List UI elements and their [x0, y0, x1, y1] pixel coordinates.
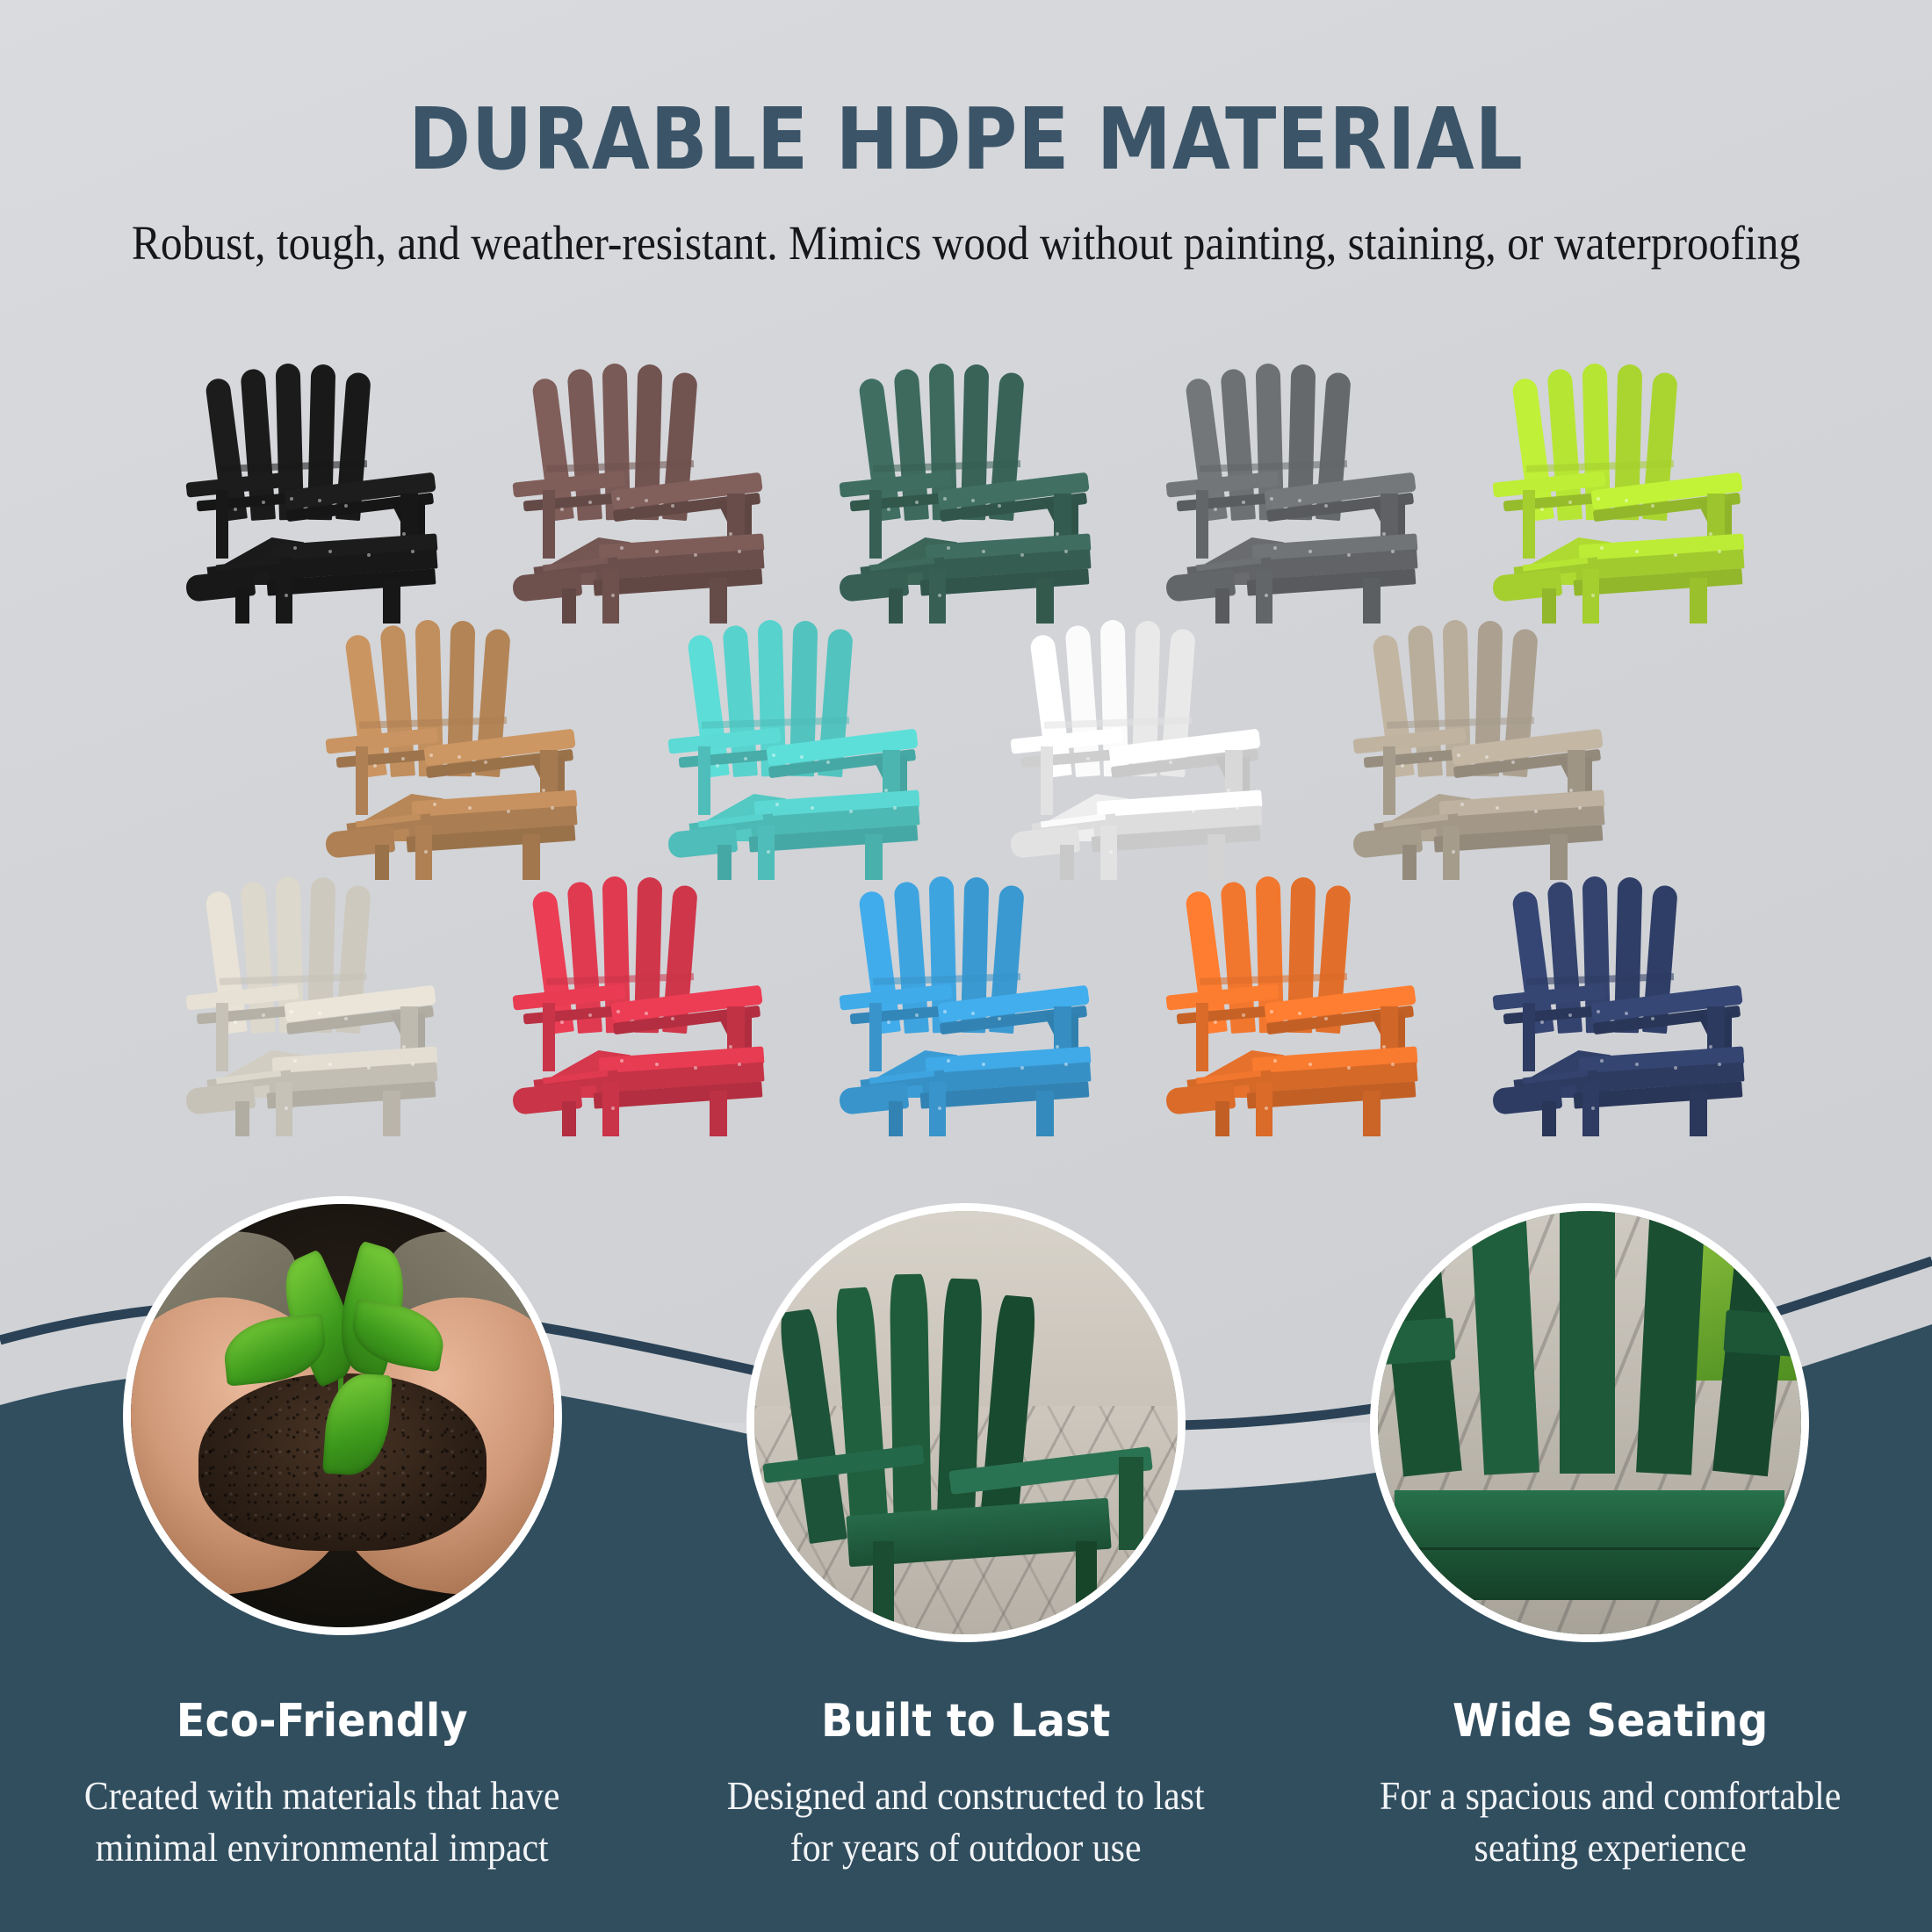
chair-color-grid — [0, 367, 1932, 1136]
chair-part — [1060, 845, 1074, 880]
chair-part — [1363, 1091, 1381, 1136]
chair-screw — [1020, 1066, 1024, 1070]
feature-caption: Wide Seating For a spacious and comforta… — [1288, 1695, 1932, 1873]
chair-screw — [729, 532, 732, 536]
chair-screw — [468, 806, 472, 810]
chair-screw — [1308, 550, 1312, 553]
chair-screw — [616, 1010, 620, 1013]
chair-seat — [1395, 1490, 1784, 1600]
chair-back-slat — [890, 1274, 933, 1541]
chair-screw — [1298, 499, 1301, 502]
chair-screw — [344, 1017, 348, 1020]
chair-screw — [655, 550, 659, 553]
chair-screw — [293, 1059, 297, 1063]
chair-swatch-red[interactable] — [476, 880, 803, 1136]
chair-screw — [729, 1045, 732, 1049]
feature-text: Created with materials that have minimal… — [59, 1770, 586, 1873]
chair-screw — [234, 508, 237, 511]
chair-part — [869, 490, 882, 559]
adirondack-chair-icon — [181, 367, 444, 624]
chair-screw — [1534, 810, 1538, 813]
chair-screw — [1651, 504, 1654, 508]
chair-screw — [1056, 532, 1059, 536]
chair-screw — [744, 757, 747, 761]
feature-photos — [0, 1196, 1932, 1670]
chair-screw — [887, 508, 890, 511]
chair-screw — [1568, 1013, 1572, 1017]
chair-screw — [1270, 497, 1273, 501]
chair-swatch-gray[interactable] — [1129, 367, 1456, 624]
chair-screw — [645, 1012, 648, 1015]
chair-screw — [1674, 553, 1677, 557]
chair-screw — [1496, 806, 1499, 810]
chair-part — [383, 578, 400, 624]
feature-text: For a spacious and comfortable seating e… — [1346, 1770, 1873, 1873]
chair-screw — [671, 504, 674, 508]
chair-screw — [943, 1010, 947, 1013]
chair-screw — [411, 550, 415, 553]
adirondack-chair-icon — [1161, 367, 1424, 624]
chair-screw — [915, 501, 919, 504]
chair-screw — [373, 764, 377, 768]
chair-screw — [826, 761, 830, 764]
chair-part — [1542, 588, 1556, 624]
chair-screw — [1382, 532, 1386, 536]
chair-screw — [1568, 501, 1572, 504]
chair-part — [1196, 490, 1208, 559]
chair-part — [1690, 1091, 1707, 1136]
chair-screw — [293, 546, 297, 550]
chair-screw — [542, 789, 545, 792]
chair-screw — [716, 764, 719, 768]
chair-screw — [1227, 789, 1230, 792]
chair-screw — [884, 789, 888, 792]
chair-screw — [620, 546, 624, 550]
feature-title: Built to Last — [705, 1695, 1227, 1748]
chair-screw — [1597, 1010, 1600, 1013]
chair-screw — [671, 1017, 674, 1020]
chair-screw — [367, 1066, 371, 1070]
chair-part — [375, 845, 389, 880]
chair-screw — [402, 532, 406, 536]
chair-screw — [1064, 550, 1068, 553]
chair-part — [869, 1003, 882, 1071]
chair-screw — [1511, 761, 1515, 764]
chair-screw — [401, 757, 405, 761]
adirondack-chair-icon — [1348, 624, 1611, 880]
chair-part — [1542, 1101, 1556, 1136]
chair-screw — [1429, 757, 1432, 761]
chair-screw — [1242, 1013, 1245, 1017]
chair-screw — [1597, 497, 1600, 501]
adirondack-chair-icon — [834, 880, 1098, 1136]
adirondack-chair-icon — [508, 880, 771, 1136]
chair-screw — [1718, 550, 1721, 553]
chair-part — [216, 490, 228, 559]
chair-screw — [611, 594, 615, 597]
chair-part — [356, 746, 368, 815]
chair-part — [889, 1101, 903, 1136]
chair-screw — [1391, 1063, 1395, 1066]
chair-screw — [1718, 1063, 1721, 1066]
chair-screw — [367, 553, 371, 557]
chair-swatch-blue[interactable] — [803, 880, 1129, 1136]
chair-swatch-lime-green[interactable] — [1456, 367, 1783, 624]
chair-leg — [1076, 1541, 1097, 1626]
chair-screw — [290, 1010, 293, 1013]
chair-part — [1690, 578, 1707, 624]
chair-screw — [971, 499, 975, 502]
chair-part — [562, 1101, 576, 1136]
chair-screw — [1485, 755, 1489, 759]
chair-swatch-dark-brown[interactable] — [476, 367, 803, 624]
chair-screw — [1153, 806, 1157, 810]
chair-screw — [1709, 1045, 1712, 1049]
chair-screw — [1214, 1020, 1217, 1024]
chair-screw — [1401, 764, 1404, 768]
chair-screw — [767, 850, 770, 854]
chair-screw — [1591, 1107, 1595, 1110]
chair-screw — [1635, 1063, 1639, 1066]
chair-part — [1036, 578, 1054, 624]
chair-screw — [458, 755, 461, 759]
chair-screw — [1236, 806, 1239, 810]
chair-screw — [998, 1017, 1001, 1020]
chair-seat-closeup-photo — [1378, 1211, 1801, 1634]
chair-part — [1383, 746, 1395, 815]
chair-swatch-black[interactable] — [149, 367, 476, 624]
chair-part — [1215, 588, 1229, 624]
chair-swatch-navy-blue[interactable] — [1456, 880, 1783, 1136]
chair-screw — [655, 1063, 659, 1066]
chair-part — [717, 845, 732, 880]
chair-screw — [1591, 594, 1595, 597]
chair-part — [1523, 1003, 1535, 1071]
adirondack-chair-icon — [1488, 880, 1751, 1136]
chair-part — [1036, 1091, 1054, 1136]
chair-screw — [1265, 1107, 1268, 1110]
chair-screw — [1118, 803, 1121, 806]
chair-screw — [1242, 501, 1245, 504]
chair-leg — [873, 1541, 894, 1634]
chair-screw — [738, 550, 741, 553]
chair-screw — [1270, 1010, 1273, 1013]
chair-row-2 — [0, 624, 1932, 880]
chair-screw — [1192, 810, 1195, 813]
adirondack-chair-icon — [321, 624, 584, 880]
chair-screw — [560, 1020, 564, 1024]
chair-screw — [971, 1012, 975, 1015]
chair-part — [216, 1003, 228, 1071]
chair-row-1 — [0, 367, 1932, 624]
chair-screw — [560, 508, 564, 511]
chair-screw — [775, 803, 779, 806]
chair-screw — [616, 497, 620, 501]
chair-screw — [645, 499, 648, 502]
chair-part — [1523, 490, 1535, 559]
chair-arm-post — [1119, 1457, 1144, 1550]
chair-screw — [262, 501, 265, 504]
chair-screw — [1540, 508, 1544, 511]
chair-screw — [507, 810, 510, 813]
chair-screw — [1214, 508, 1217, 511]
chair-part — [698, 746, 710, 815]
chair-screw — [402, 1045, 406, 1049]
chair-screw — [982, 550, 985, 553]
chair-screw — [328, 1063, 332, 1066]
chair-screw — [318, 499, 321, 502]
chair-screw — [588, 1013, 592, 1017]
chair-screw — [982, 1063, 985, 1066]
chair-screw — [947, 546, 950, 550]
chair-swatch-white[interactable] — [966, 624, 1308, 880]
chair-screw — [772, 753, 775, 757]
chair-screw — [1569, 789, 1573, 792]
chair-part — [1402, 845, 1417, 880]
chair-swatch-ivory[interactable] — [149, 880, 476, 1136]
chair-screw — [943, 497, 947, 501]
adirondack-chair-icon — [1161, 880, 1424, 1136]
chair-screw — [893, 806, 897, 810]
chair-screw — [915, 1013, 919, 1017]
chair-screw — [1635, 550, 1639, 553]
chair-screw — [1460, 803, 1464, 806]
chair-screw — [1600, 546, 1604, 550]
chair-screw — [1058, 764, 1062, 768]
chair-screw — [938, 594, 941, 597]
built-to-last-photo — [746, 1203, 1186, 1642]
chair-screw — [285, 1107, 288, 1110]
chair-back-slat — [1560, 1203, 1615, 1474]
adirondack-chair-icon — [1488, 367, 1751, 624]
chair-screw — [1391, 550, 1395, 553]
chair-part — [543, 1003, 555, 1071]
adirondack-chair-icon — [1006, 624, 1269, 880]
chair-screw — [1625, 1012, 1628, 1015]
chair-part — [1196, 1003, 1208, 1071]
chair-screw — [1674, 1066, 1677, 1070]
chair-swatch-dark-green[interactable] — [803, 367, 1129, 624]
chair-screw — [1600, 1059, 1604, 1063]
chair-part — [1215, 1101, 1229, 1136]
chair-screw — [938, 1107, 941, 1110]
adirondack-chair-icon — [663, 624, 926, 880]
chair-screw — [262, 1013, 265, 1017]
chair-armrest-right — [1724, 1309, 1809, 1358]
chair-screw — [611, 1107, 615, 1110]
chair-screw — [1109, 850, 1113, 854]
chair-row-3 — [0, 880, 1932, 1136]
chair-screw — [694, 1066, 697, 1070]
chair-screw — [1347, 553, 1351, 557]
chair-screw — [433, 803, 436, 806]
chair-part — [710, 578, 727, 624]
chair-screw — [328, 550, 332, 553]
wide-seating-photo — [1370, 1203, 1809, 1642]
chair-part — [543, 490, 555, 559]
chair-part — [1550, 834, 1568, 880]
chair-part — [1041, 746, 1053, 815]
chair-screw — [1452, 850, 1455, 854]
chair-screw — [811, 806, 814, 810]
chair-screw — [285, 594, 288, 597]
chair-screw — [1625, 499, 1628, 502]
chair-seat-seam — [1395, 1547, 1784, 1550]
chair-screw — [620, 1059, 624, 1063]
feature-caption: Built to Last Designed and constructed t… — [644, 1695, 1287, 1873]
chair-screw — [1457, 753, 1460, 757]
chair-part — [1363, 578, 1381, 624]
feature-caption: Eco-Friendly Created with materials that… — [0, 1695, 644, 1873]
chair-screw — [1114, 753, 1118, 757]
chair-screw — [344, 504, 348, 508]
chair-screw — [1056, 1045, 1059, 1049]
adirondack-chair-icon — [508, 367, 771, 624]
chair-screw — [1169, 761, 1172, 764]
chair-screw — [234, 1020, 237, 1024]
chair-screw — [290, 497, 293, 501]
chair-screw — [1064, 1063, 1068, 1066]
chair-screw — [1709, 532, 1712, 536]
chair-swatch-orange[interactable] — [1129, 880, 1456, 1136]
adirondack-chair-icon — [181, 880, 444, 1136]
chair-screw — [1382, 1045, 1386, 1049]
page-subtitle: Robust, tough, and weather-resistant. Mi… — [97, 212, 1835, 276]
chair-screw — [887, 1020, 890, 1024]
chair-part — [235, 1101, 249, 1136]
chair-part — [1207, 834, 1225, 880]
chair-screw — [1324, 1017, 1328, 1020]
chair-part — [865, 834, 883, 880]
adirondack-chair-icon — [834, 367, 1098, 624]
chair-screw — [1273, 546, 1277, 550]
chair-swatch-turquoise[interactable] — [624, 624, 966, 880]
chair-screw — [429, 753, 433, 757]
chair-part — [710, 1091, 727, 1136]
chair-screw — [484, 761, 487, 764]
chair-screw — [1324, 504, 1328, 508]
header: DURABLE HDPE MATERIAL Robust, tough, and… — [0, 97, 1932, 276]
chair-screw — [800, 755, 804, 759]
chair-screw — [551, 806, 554, 810]
chair-screw — [1265, 594, 1268, 597]
chair-swatch-khaki[interactable] — [1308, 624, 1651, 880]
chair-screw — [1578, 806, 1582, 810]
chair-armrest-left — [1370, 1318, 1455, 1366]
chair-screw — [1651, 1017, 1654, 1020]
feature-title: Eco-Friendly — [61, 1695, 583, 1748]
chair-screw — [1540, 1020, 1544, 1024]
eco-friendly-photo — [123, 1196, 562, 1635]
chair-screw — [1347, 1066, 1351, 1070]
chair-screw — [998, 504, 1001, 508]
chair-screw — [318, 1012, 321, 1015]
chair-screw — [424, 850, 428, 854]
chair-screw — [1020, 553, 1024, 557]
feature-text: Designed and constructed to last for yea… — [703, 1770, 1229, 1873]
chair-screw — [694, 553, 697, 557]
chair-screw — [411, 1063, 415, 1066]
chair-screw — [1143, 755, 1146, 759]
chair-swatch-teak[interactable] — [281, 624, 624, 880]
chair-screw — [947, 1059, 950, 1063]
chair-screw — [849, 810, 853, 813]
chair-part — [523, 834, 540, 880]
feature-title: Wide Seating — [1349, 1695, 1871, 1748]
chair-screw — [588, 501, 592, 504]
chair-screw — [738, 1063, 741, 1066]
chair-screw — [1308, 1063, 1312, 1066]
feature-captions: Eco-Friendly Created with materials that… — [0, 1695, 1932, 1873]
chair-part — [235, 588, 249, 624]
hands-holding-seedling-photo — [131, 1204, 554, 1627]
chair-part — [562, 588, 576, 624]
chair-screw — [1086, 757, 1090, 761]
page-title: DURABLE HDPE MATERIAL — [116, 97, 1816, 182]
chair-part — [383, 1091, 400, 1136]
chair-part — [889, 588, 903, 624]
chair-screw — [1273, 1059, 1277, 1063]
chair-screw — [1298, 1012, 1301, 1015]
green-chair-on-patio-photo — [754, 1211, 1178, 1634]
